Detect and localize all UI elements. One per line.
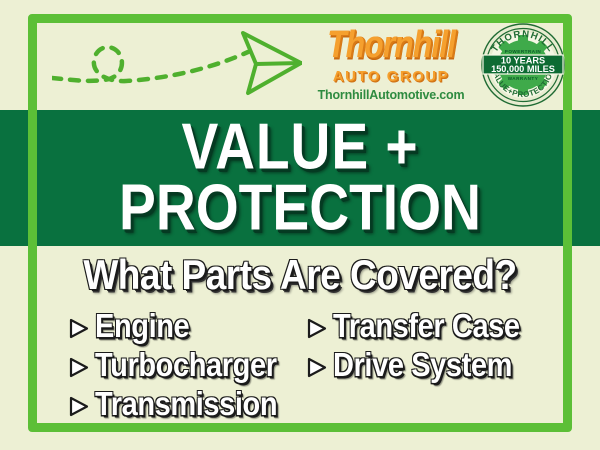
- triangle-right-icon: [68, 396, 90, 417]
- triangle-right-icon: [306, 318, 328, 339]
- covered-parts-left-column: Engine Turbocharger: [0, 308, 290, 425]
- triangle-right-icon: [68, 357, 90, 378]
- section-subheading: What Parts Are Covered?: [0, 252, 600, 299]
- list-item-label: Transfer Case: [333, 309, 520, 347]
- list-item-label: Drive System: [333, 348, 512, 386]
- list-item-label: Transmission: [95, 387, 277, 425]
- list-item-label: Engine: [95, 309, 189, 347]
- covered-parts-section: What Parts Are Covered? Engine: [0, 246, 600, 450]
- headline-band: VALUE + PROTECTION: [0, 110, 600, 246]
- header-row: Thornhill AUTO GROUP ThornhillAutomotive…: [0, 0, 600, 110]
- seal-small-top-text: POWERTRAIN: [505, 49, 542, 54]
- list-item: Turbocharger: [68, 347, 290, 386]
- logo-subtitle: AUTO GROUP: [310, 69, 471, 85]
- dashed-flight-path-icon: [52, 22, 302, 104]
- list-item: Drive System: [306, 347, 600, 386]
- seal-small-bottom-text: WARRANTY: [508, 76, 539, 81]
- seal-banner-line2: 150,000 MILES: [491, 64, 555, 74]
- warranty-seal-badge: THORNHILL VALUE+PROTECTION POWERTRAIN WA…: [480, 22, 566, 108]
- thornhill-logo: Thornhill AUTO GROUP ThornhillAutomotive…: [312, 24, 470, 102]
- covered-parts-right-column: Transfer Case Drive System: [290, 308, 600, 425]
- logo-website-url: ThornhillAutomotive.com: [312, 88, 470, 102]
- list-item: Engine: [68, 308, 290, 347]
- headline-line-2: PROTECTION: [24, 173, 576, 242]
- ad-banner: Thornhill AUTO GROUP ThornhillAutomotive…: [0, 0, 600, 450]
- covered-parts-columns: Engine Turbocharger: [0, 308, 600, 425]
- triangle-right-icon: [306, 357, 328, 378]
- triangle-right-icon: [68, 318, 90, 339]
- logo-wordmark: Thornhill: [312, 24, 470, 64]
- list-item: Transmission: [68, 386, 290, 425]
- list-item: Transfer Case: [306, 308, 600, 347]
- list-item-label: Turbocharger: [95, 348, 277, 386]
